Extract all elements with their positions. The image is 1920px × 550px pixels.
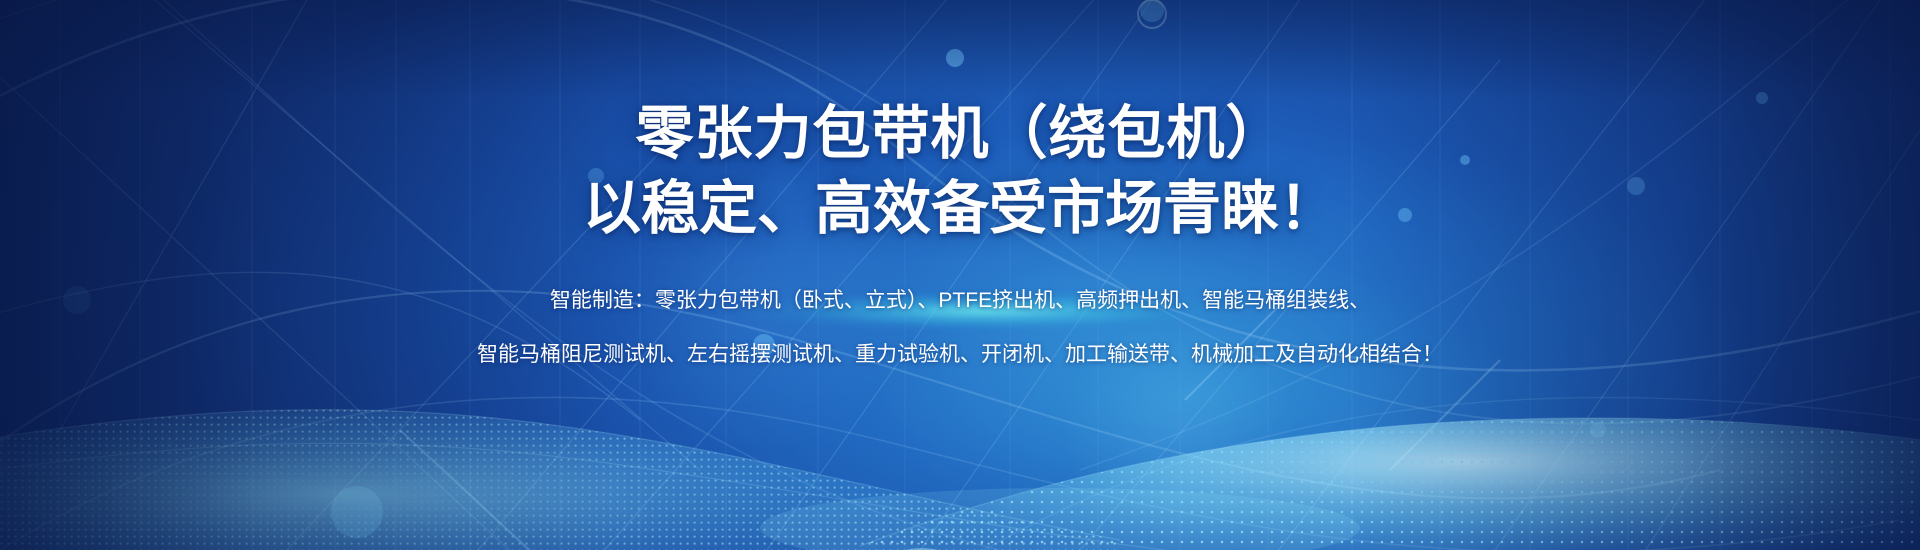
headline-line-1: 零张力包带机（绕包机）	[635, 101, 1284, 166]
promo-banner: 零张力包带机（绕包机） 以稳定、高效备受市场青睐！ 智能制造：零张力包带机（卧式…	[0, 0, 1920, 550]
headline-line-2: 以稳定、高效备受市场青睐！	[0, 171, 1920, 246]
banner-subtext-line-1: 智能制造：零张力包带机（卧式、立式）、PTFE挤出机、高频押出机、智能马桶组装线…	[0, 247, 1920, 311]
banner-headline: 零张力包带机（绕包机） 以稳定、高效备受市场青睐！	[0, 0, 1920, 247]
banner-subtext-line-2: 智能马桶阻尼测试机、左右摇摆测试机、重力试验机、开闭机、加工输送带、机械加工及自…	[0, 311, 1920, 365]
banner-content: 零张力包带机（绕包机） 以稳定、高效备受市场青睐！ 智能制造：零张力包带机（卧式…	[0, 0, 1920, 365]
